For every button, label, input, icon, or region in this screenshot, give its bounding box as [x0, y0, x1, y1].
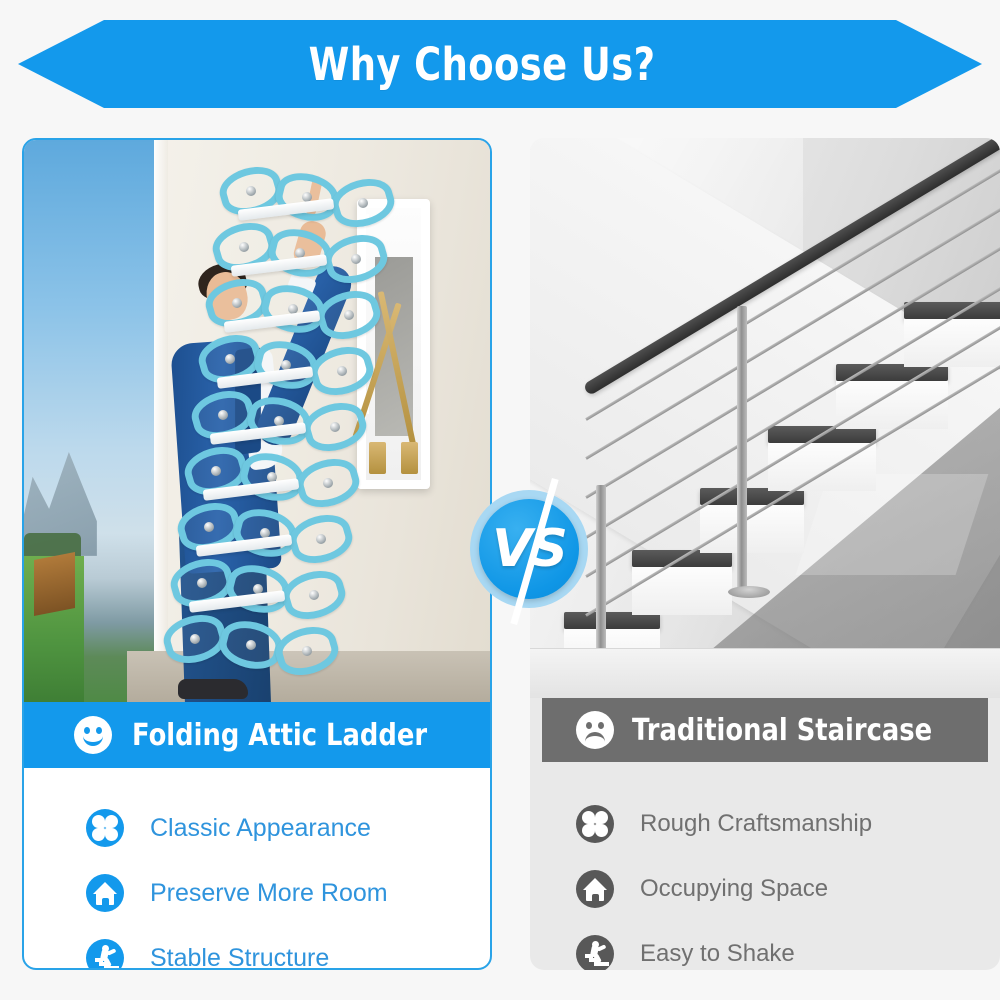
- flower-icon: [576, 805, 614, 843]
- vs-badge: VS: [470, 490, 588, 608]
- ladder-rivet: [232, 298, 242, 308]
- left-product-photo: [24, 140, 490, 702]
- list-item-label: Occupying Space: [640, 875, 828, 903]
- ladder-rivet: [225, 354, 235, 364]
- ladder-rivet: [316, 534, 326, 544]
- ladder-rivet: [344, 310, 354, 320]
- ladder-rivet: [204, 522, 214, 532]
- list-item: Rough Craftsmanship: [576, 798, 1000, 850]
- ladder-rivet: [197, 578, 207, 588]
- floor-surface: [530, 648, 1000, 698]
- stair-riser: [632, 567, 732, 615]
- house-icon: [576, 870, 614, 908]
- left-title-bar: Folding Attic Ladder: [24, 702, 490, 768]
- list-item: Stable Structure: [86, 932, 490, 970]
- ladder-rivet: [211, 466, 221, 476]
- ladder-rivet: [246, 640, 256, 650]
- ladder-rivet: [302, 646, 312, 656]
- flower-icon: [86, 809, 124, 847]
- list-item-label: Rough Craftsmanship: [640, 810, 872, 838]
- ladder-rivet: [239, 242, 249, 252]
- list-item-label: Stable Structure: [150, 944, 329, 971]
- list-item-label: Classic Appearance: [150, 814, 371, 843]
- list-item-label: Preserve More Room: [150, 879, 388, 908]
- page-title: Why Choose Us?: [87, 20, 877, 108]
- person-climbing-stairs-icon: [576, 935, 614, 970]
- smiley-face-icon: [74, 716, 112, 754]
- list-item: Occupying Space: [576, 863, 1000, 915]
- stair-riser: [904, 319, 1000, 367]
- stair-riser: [700, 505, 804, 553]
- right-title-bar: Traditional Staircase: [542, 698, 988, 762]
- sad-face-icon: [576, 711, 614, 749]
- ladder-rivet: [190, 634, 200, 644]
- person-climbing-stairs-icon: [86, 939, 124, 970]
- comparison-card-left: Folding Attic Ladder Classic Appearance …: [22, 138, 492, 970]
- right-product-photo: [530, 138, 1000, 698]
- list-item: Preserve More Room: [86, 867, 490, 919]
- comparison-card-right: Traditional Staircase Rough Craftsmanshi…: [530, 138, 1000, 970]
- ladder-rivet: [330, 422, 340, 432]
- house-icon: [86, 874, 124, 912]
- ladder-rivet: [323, 478, 333, 488]
- list-item: Easy to Shake: [576, 928, 1000, 970]
- list-item-label: Easy to Shake: [640, 940, 795, 968]
- railing-post-1: [737, 306, 747, 597]
- ladder-rivet: [337, 366, 347, 376]
- ladder-lattice: [220, 168, 434, 685]
- right-feature-list: Rough Craftsmanship Occupying Space Easy…: [530, 772, 1000, 970]
- roof-shape: [34, 552, 75, 616]
- post-base-1: [728, 586, 770, 598]
- list-item: Classic Appearance: [86, 802, 490, 854]
- ladder-rivet: [309, 590, 319, 600]
- ladder-rivet: [218, 410, 228, 420]
- header-banner: Why Choose Us?: [0, 20, 1000, 108]
- left-feature-list: Classic Appearance Preserve More Room St…: [24, 776, 490, 970]
- ladder-rivet: [358, 198, 368, 208]
- vs-label: VS: [470, 490, 588, 608]
- left-title-label: Folding Attic Ladder: [132, 718, 427, 753]
- right-title-label: Traditional Staircase: [632, 713, 932, 748]
- folding-attic-ladder: [220, 168, 434, 685]
- ladder-rivet: [351, 254, 361, 264]
- ladder-rivet: [246, 186, 256, 196]
